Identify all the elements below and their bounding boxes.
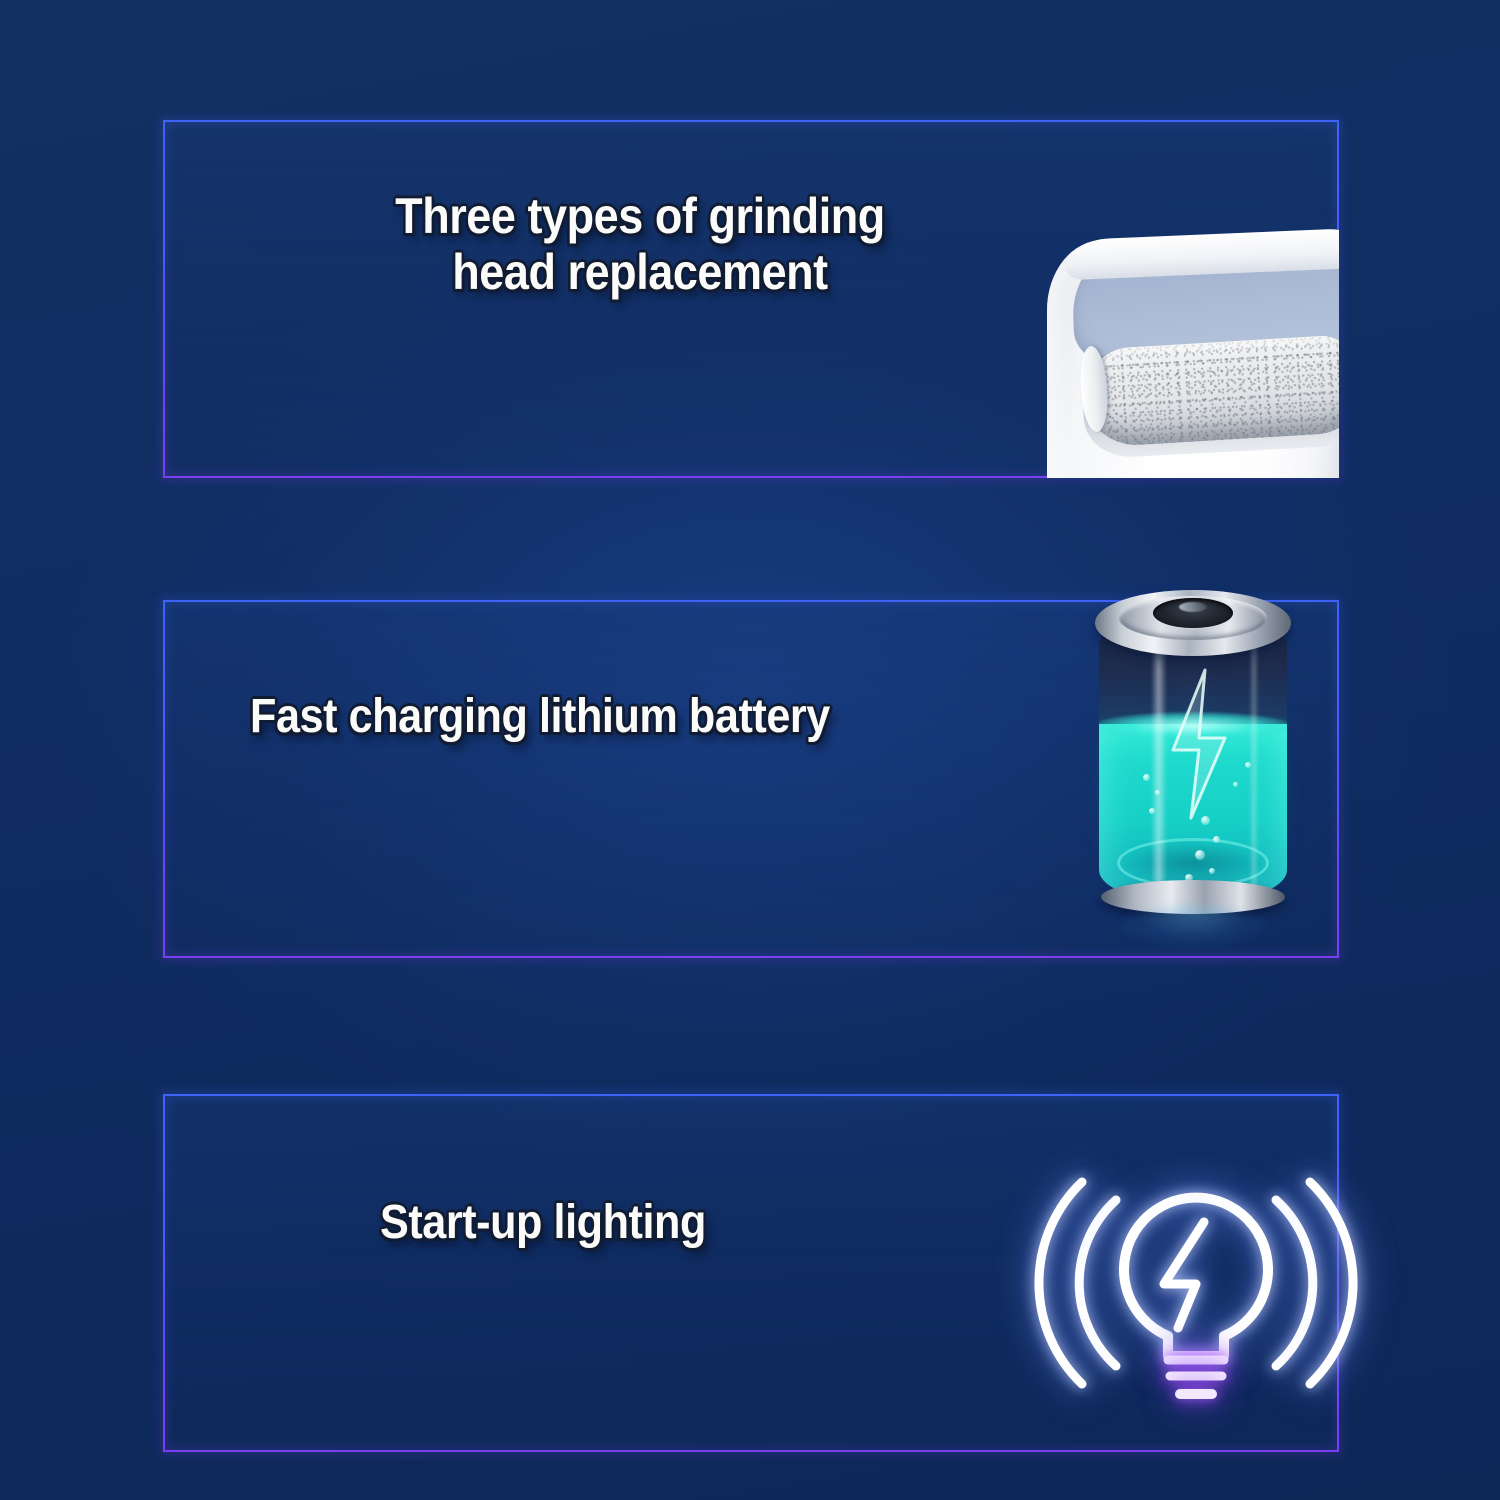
- feature-panel-startup-lighting: [163, 1094, 1339, 1452]
- feature-panel-grinding-head: [163, 120, 1339, 478]
- feature-panel-lithium-battery: [163, 600, 1339, 958]
- feature-highlight-poster: Three types of grinding head replacement…: [0, 0, 1500, 1500]
